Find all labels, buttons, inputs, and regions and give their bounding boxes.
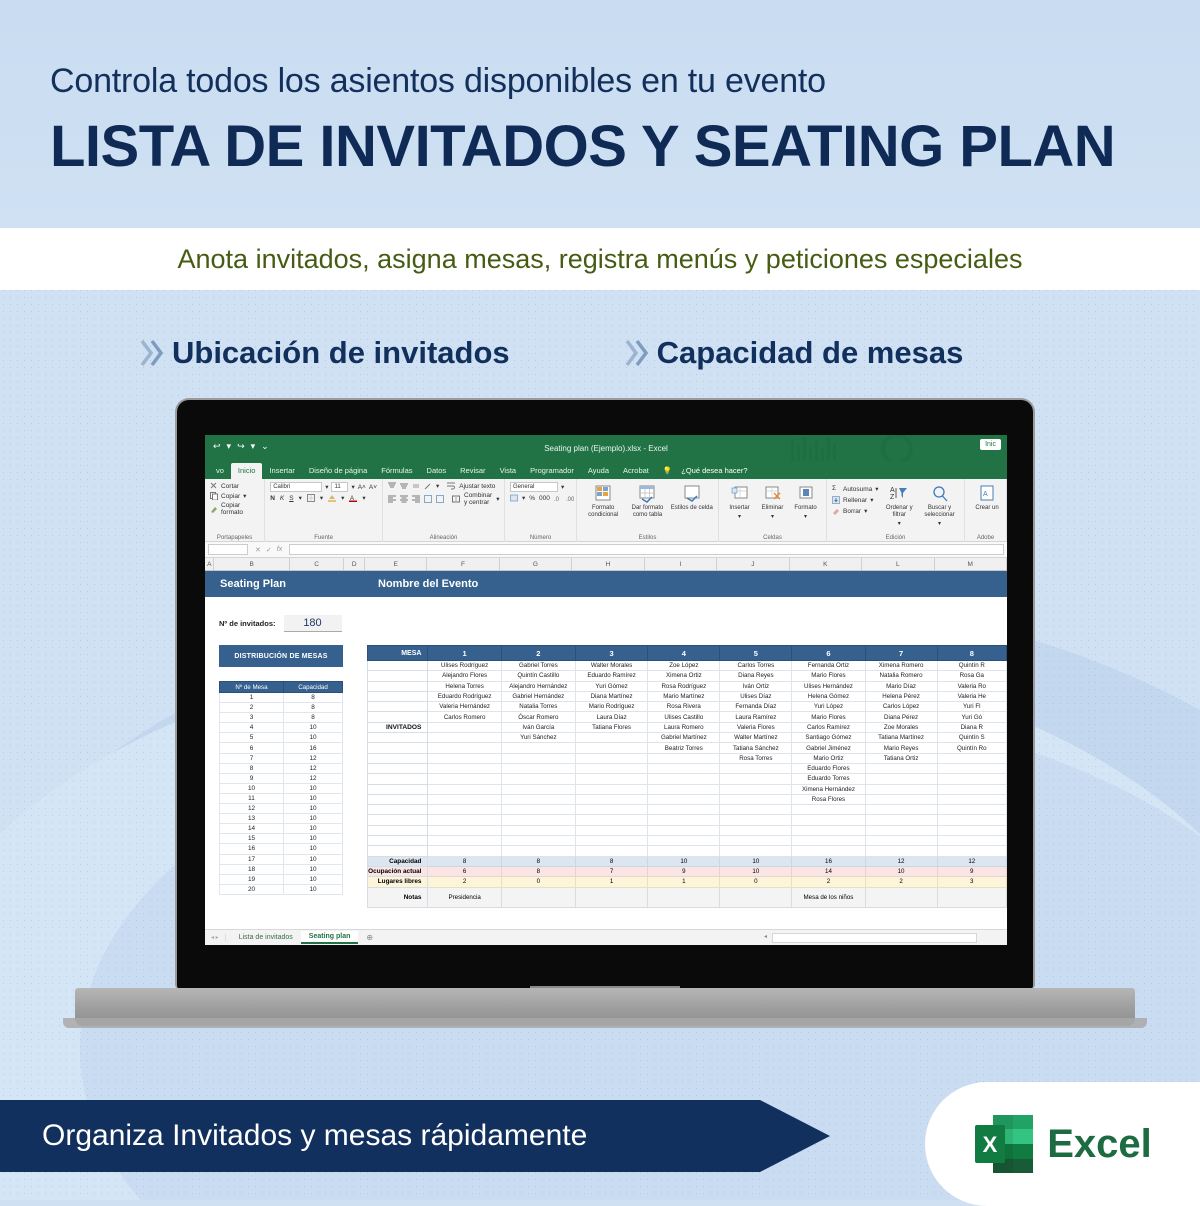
tab-vista[interactable]: Vista <box>493 463 524 479</box>
seating-row: Carlos RomeroÓscar RomeroLaura DíazUlise… <box>368 712 1007 722</box>
percent-button[interactable]: % <box>529 495 535 502</box>
column-header-B[interactable]: B <box>214 558 289 570</box>
guest-name-cell <box>575 784 647 794</box>
italic-button[interactable]: K <box>280 495 284 502</box>
invitados-label <box>368 815 428 825</box>
invitados-label <box>368 743 428 753</box>
insert-cells-button[interactable]: Insertar ▾ <box>724 482 755 542</box>
seating-table: MESA 1 2 3 4 5 6 7 8 Ulises RodríguezGab… <box>367 645 1007 908</box>
capacidad-cell: 8 <box>575 856 647 866</box>
invitados-label <box>368 794 428 804</box>
guest-name-cell: Quintín Castillo <box>501 671 575 681</box>
table-number-header: 2 <box>501 646 575 661</box>
guest-name-cell <box>575 805 647 815</box>
guest-name-cell: Walter Martínez <box>720 733 792 743</box>
horizontal-scrollbar[interactable] <box>772 933 977 943</box>
guest-name-cell: Quintín Ro <box>937 743 1006 753</box>
formula-input[interactable] <box>289 544 1004 555</box>
guest-name-cell <box>501 743 575 753</box>
feature-row: Ubicación de invitados Capacidad de mesa… <box>0 312 1200 394</box>
guest-name-cell: Iván García <box>501 722 575 732</box>
summary-label-capacidad: Capacidad <box>368 856 428 866</box>
guest-name-cell: Diana Martínez <box>575 691 647 701</box>
column-header-I[interactable]: I <box>645 558 717 570</box>
tab-diseno-pagina[interactable]: Diseño de página <box>302 463 374 479</box>
chevron-down-icon[interactable]: ▾ <box>325 483 328 491</box>
guest-name-cell: Natalia Torres <box>501 702 575 712</box>
chevron-down-icon[interactable]: ▾ <box>299 494 302 502</box>
guest-name-cell <box>575 836 647 846</box>
create-pdf-button[interactable]: A Crear un <box>970 482 1004 512</box>
dist-capacidad-cell: 8 <box>284 703 343 713</box>
guest-name-cell <box>575 794 647 804</box>
guest-name-cell <box>792 846 865 856</box>
guest-name-cell: Valeria Hernández <box>428 702 501 712</box>
guest-name-cell: Diana Pérez <box>865 712 937 722</box>
align-middle-icon[interactable] <box>400 482 408 490</box>
row-notas: Notas Presidencia Mesa de los niños <box>368 887 1007 907</box>
add-sheet-icon[interactable]: ⊕ <box>358 933 373 942</box>
guest-name-cell: Mario Flores <box>792 671 865 681</box>
sort-filter-label: Ordenar y filtrar <box>882 505 917 519</box>
chevron-down-icon[interactable]: ▾ <box>938 521 941 528</box>
seating-row: Ulises RodríguezGabriel TorresWalter Mor… <box>368 661 1007 671</box>
feature-label: Ubicación de invitados <box>172 335 510 371</box>
ribbon-group-edicion: Σ Autosuma ▾ Rellenar ▾ <box>827 479 965 542</box>
cell-styles-button[interactable]: Estilos de celda <box>671 482 713 542</box>
guest-name-cell: Santiago Gómez <box>792 733 865 743</box>
tell-me-box[interactable]: ¿Qué desea hacer? <box>674 463 754 479</box>
dist-mesa-cell: 12 <box>220 804 284 814</box>
copy-icon <box>210 492 218 500</box>
scissors-icon <box>210 482 218 490</box>
guest-name-cell <box>648 774 720 784</box>
decrease-indent-icon[interactable] <box>424 495 432 503</box>
guest-name-cell: Gabriel Jiménez <box>792 743 865 753</box>
chevron-down-icon[interactable]: ▾ <box>898 521 901 528</box>
seating-row: INVITADOSIván GarcíaTatiana FloresLaura … <box>368 722 1007 732</box>
guest-name-cell: Gabriel Hernández <box>501 691 575 701</box>
autosum-command[interactable]: Σ Autosuma ▾ <box>832 485 879 493</box>
ribbon: Cortar Copiar ▾ Copiar formato <box>205 479 1007 542</box>
seating-row: Helena TorresAlejandro HernándezYuri Góm… <box>368 681 1007 691</box>
insert-function-icon[interactable]: fx <box>277 546 282 554</box>
find-select-button[interactable]: Buscar y seleccionar ▾ <box>920 482 959 542</box>
chevron-down-icon[interactable]: ▾ <box>561 483 564 491</box>
chevron-down-icon[interactable]: ▾ <box>870 496 873 504</box>
align-left-icon[interactable] <box>388 495 396 503</box>
banner-event-name: Nombre del Evento <box>370 578 478 590</box>
guest-name-cell: Ximena Romero <box>865 661 937 671</box>
guest-name-cell: Laura Romero <box>648 722 720 732</box>
conditional-format-icon <box>594 485 612 503</box>
tab-inicio[interactable]: Inicio <box>231 463 263 479</box>
dist-mesa-cell: 13 <box>220 814 284 824</box>
guest-name-cell: Rosa Flores <box>792 794 865 804</box>
tab-ayuda[interactable]: Ayuda <box>581 463 616 479</box>
guest-name-cell <box>501 846 575 856</box>
distribution-row: 1810 <box>220 864 343 874</box>
dist-mesa-cell: 15 <box>220 834 284 844</box>
chevron-down-icon[interactable]: ▾ <box>351 483 354 491</box>
bold-button[interactable]: N <box>270 495 275 502</box>
guest-name-cell <box>865 825 937 835</box>
document-title: Seating plan (Ejemplo).xlsx - Excel <box>205 444 1007 453</box>
guest-name-cell <box>648 794 720 804</box>
guest-name-cell <box>501 753 575 763</box>
guest-name-cell: Yuri Gó <box>937 712 1006 722</box>
format-cells-button[interactable]: Formato ▾ <box>790 482 821 542</box>
tab-formulas[interactable]: Fórmulas <box>374 463 419 479</box>
cut-label: Cortar <box>221 483 239 490</box>
guest-name-cell <box>937 794 1006 804</box>
chevron-down-icon[interactable]: ▾ <box>436 482 439 490</box>
ocupacion-cell: 9 <box>648 866 720 876</box>
dist-capacidad-cell: 12 <box>284 773 343 783</box>
cell-styles-icon <box>683 485 701 503</box>
feature-item-capacidad: Capacidad de mesas <box>625 335 964 371</box>
increase-font-icon[interactable]: A˄ <box>358 484 366 491</box>
font-color-icon[interactable]: A <box>349 494 357 502</box>
ribbon-group-alineacion: ▾ Ajustar texto Combinar y centrar ▾ <box>383 479 505 542</box>
number-format-select[interactable]: General <box>510 482 558 492</box>
conditional-format-button[interactable]: Formato condicional <box>582 482 624 542</box>
format-painter-command[interactable]: Copiar formato <box>210 502 259 516</box>
scrollbar-thumb[interactable] <box>773 934 943 942</box>
chevron-down-icon[interactable]: ▾ <box>496 495 499 503</box>
chevron-down-icon[interactable]: ▾ <box>362 494 365 502</box>
table-number-header: 8 <box>937 646 1006 661</box>
ocupacion-cell: 10 <box>720 866 792 876</box>
tab-datos[interactable]: Datos <box>420 463 454 479</box>
guest-name-cell <box>575 774 647 784</box>
currency-icon[interactable] <box>510 494 518 502</box>
dist-mesa-cell: 19 <box>220 874 284 884</box>
font-name-select[interactable]: Calibri <box>270 482 322 492</box>
dist-mesa-cell: 14 <box>220 824 284 834</box>
clear-command[interactable]: Borrar ▾ <box>832 507 879 515</box>
align-bottom-icon[interactable] <box>412 482 420 490</box>
guest-name-cell <box>428 753 501 763</box>
nota-cell <box>865 887 937 907</box>
table-icon <box>638 485 656 503</box>
guest-name-cell <box>865 805 937 815</box>
decrease-decimal-icon[interactable]: .00 <box>566 494 574 502</box>
column-header-E[interactable]: E <box>365 558 427 570</box>
column-header-A[interactable]: A <box>205 558 214 570</box>
conditional-format-label: Formato condicional <box>582 505 624 519</box>
tab-archivo[interactable]: vo <box>209 463 231 479</box>
chevron-down-icon[interactable]: ▾ <box>875 485 878 493</box>
ribbon-group-fuente: Calibri ▾ 11 ▾ A˄ A˅ N K S ▾ <box>265 479 383 542</box>
guest-count-label: Nº de invitados: <box>219 619 276 628</box>
chevron-down-icon[interactable]: ▾ <box>771 514 774 521</box>
dist-mesa-cell: 2 <box>220 703 284 713</box>
feature-item-ubicacion: Ubicación de invitados <box>140 335 510 371</box>
format-label: Formato <box>794 505 816 512</box>
guest-name-cell <box>648 836 720 846</box>
merge-cells-icon <box>452 495 460 503</box>
wrap-text-label[interactable]: Ajustar texto <box>459 483 495 490</box>
column-header-J[interactable]: J <box>717 558 789 570</box>
distribution-row: 1310 <box>220 814 343 824</box>
distribution-row: 1010 <box>220 783 343 793</box>
underline-button[interactable]: S <box>289 495 293 502</box>
formula-bar: ✕ ✓ fx <box>205 542 1007 558</box>
laptop-mockup: ↩ ▾ ↪ ▾ ⌄ Seating plan (Ejemplo).xlsx <box>175 398 1035 998</box>
guest-name-cell: Quintín S <box>937 733 1006 743</box>
sheet-nav-arrows-icon[interactable]: ◂ ▸ <box>211 934 226 941</box>
banner-seating-plan: Seating Plan <box>205 578 370 590</box>
format-as-table-button[interactable]: Dar formato como tabla <box>626 482 668 542</box>
tab-acrobat[interactable]: Acrobat <box>616 463 656 479</box>
guest-name-cell <box>792 825 865 835</box>
increase-decimal-icon[interactable]: .0 <box>554 494 562 502</box>
dist-mesa-cell: 6 <box>220 743 284 753</box>
laptop-base-lip <box>63 1018 1147 1028</box>
sheet-tab-lista-invitados[interactable]: Lista de invitados <box>231 932 301 943</box>
dist-capacidad-cell: 8 <box>284 693 343 703</box>
guest-count-value[interactable]: 180 <box>284 615 342 632</box>
copy-command[interactable]: Copiar ▾ <box>210 492 259 500</box>
dist-mesa-cell: 17 <box>220 854 284 864</box>
fill-command[interactable]: Rellenar ▾ <box>832 496 879 504</box>
chevron-down-icon[interactable]: ▾ <box>341 494 344 502</box>
dist-mesa-cell: 11 <box>220 793 284 803</box>
seating-row: Alejandro FloresQuintín CastilloEduardo … <box>368 671 1007 681</box>
guest-name-cell: Carlos López <box>865 702 937 712</box>
distribution-row: 1210 <box>220 804 343 814</box>
guest-name-cell <box>648 753 720 763</box>
guest-name-cell: Zoe Morales <box>865 722 937 732</box>
capacidad-cell: 16 <box>792 856 865 866</box>
chevron-down-icon[interactable]: ▾ <box>243 492 246 500</box>
orientation-icon[interactable] <box>424 482 432 490</box>
libres-cell: 2 <box>865 877 937 887</box>
nota-cell: Presidencia <box>428 887 501 907</box>
invitados-label <box>368 671 428 681</box>
guest-name-cell <box>501 774 575 784</box>
guest-name-cell <box>865 774 937 784</box>
guest-name-cell <box>501 836 575 846</box>
guest-name-cell <box>937 836 1006 846</box>
dist-capacidad-cell: 10 <box>284 864 343 874</box>
group-label-edicion: Edición <box>827 535 964 541</box>
dist-capacidad-cell: 10 <box>284 804 343 814</box>
svg-text:.00: .00 <box>566 497 574 502</box>
tab-programador[interactable]: Programador <box>523 463 581 479</box>
dist-capacidad-cell: 10 <box>284 854 343 864</box>
guest-name-cell: Helena Torres <box>428 681 501 691</box>
ocupacion-cell: 8 <box>501 866 575 876</box>
guest-name-cell: Fernanda Ortiz <box>792 661 865 671</box>
sort-filter-icon: AZ <box>890 485 908 503</box>
dist-capacidad-cell: 10 <box>284 814 343 824</box>
row-lugares-libres: Lugares libres 2 0 1 1 0 2 2 3 <box>368 877 1007 887</box>
excel-title-bar: ↩ ▾ ↪ ▾ ⌄ Seating plan (Ejemplo).xlsx <box>205 435 1007 461</box>
merge-center-label[interactable]: Combinar y centrar <box>464 492 492 506</box>
tab-insertar[interactable]: Insertar <box>262 463 301 479</box>
align-center-icon[interactable] <box>400 495 408 503</box>
column-header-L[interactable]: L <box>862 558 934 570</box>
pdf-icon: A <box>978 485 996 503</box>
column-header-F[interactable]: F <box>427 558 499 570</box>
delete-label: Eliminar <box>762 505 784 512</box>
nota-cell <box>720 887 792 907</box>
guest-name-cell <box>428 784 501 794</box>
ocupacion-cell: 6 <box>428 866 501 876</box>
sigma-icon: Σ <box>832 485 840 493</box>
guest-name-cell: Rosa Rivera <box>648 702 720 712</box>
ribbon-tab-strip[interactable]: vo Inicio Insertar Diseño de página Fórm… <box>205 461 1007 479</box>
fill-label: Rellenar <box>843 497 867 504</box>
autosum-label: Autosuma <box>843 486 872 493</box>
seating-row <box>368 805 1007 815</box>
find-select-label: Buscar y seleccionar <box>920 505 959 519</box>
invitados-label: INVITADOS <box>368 722 428 732</box>
column-header-D[interactable]: D <box>344 558 365 570</box>
dist-mesa-cell: 4 <box>220 723 284 733</box>
dist-mesa-cell: 5 <box>220 733 284 743</box>
tab-revisar[interactable]: Revisar <box>453 463 492 479</box>
footer-ribbon: Organiza Invitados y mesas rápidamente <box>0 1100 830 1172</box>
guest-name-cell <box>428 794 501 804</box>
guest-name-cell: Fernanda Díaz <box>720 702 792 712</box>
table-number-header: 7 <box>865 646 937 661</box>
guest-name-cell <box>428 774 501 784</box>
dist-capacidad-cell: 16 <box>284 743 343 753</box>
distribution-row: 410 <box>220 723 343 733</box>
guest-name-cell: Eduardo Rodríguez <box>428 691 501 701</box>
sort-filter-button[interactable]: AZ Ordenar y filtrar ▾ <box>882 482 917 542</box>
hscroll-left-icon[interactable]: ◂ <box>764 933 767 940</box>
fill-color-icon[interactable] <box>328 494 336 502</box>
guest-name-cell <box>865 815 937 825</box>
font-style-row: N K S ▾ ▾ ▾ A <box>270 494 377 502</box>
distribution-row: 38 <box>220 713 343 723</box>
ribbon-group-numero: General ▾ ▾ % 000 .0 .00 Número <box>505 479 577 542</box>
chevron-down-icon[interactable]: ▾ <box>738 514 741 521</box>
invitados-label <box>368 712 428 722</box>
invitados-label <box>368 733 428 743</box>
guest-name-cell: Carlos Ramírez <box>792 722 865 732</box>
guest-name-cell: Mario Rodríguez <box>575 702 647 712</box>
delete-cells-button[interactable]: Eliminar ▾ <box>757 482 788 542</box>
align-top-icon[interactable] <box>388 482 396 490</box>
laptop-screen-bezel: ↩ ▾ ↪ ▾ ⌄ Seating plan (Ejemplo).xlsx <box>175 398 1035 988</box>
guest-name-cell: Diana R <box>937 722 1006 732</box>
guest-name-cell: Tatiana Ortiz <box>865 753 937 763</box>
guest-name-cell <box>865 794 937 804</box>
chevron-down-icon[interactable]: ▾ <box>320 494 323 502</box>
invitados-label <box>368 836 428 846</box>
guest-name-cell <box>865 836 937 846</box>
guest-name-cell <box>428 733 501 743</box>
column-header-K[interactable]: K <box>790 558 862 570</box>
guest-name-cell <box>575 753 647 763</box>
sheet-tab-bar: ◂ ▸ Lista de invitados Seating plan ⊕ ◂ <box>205 929 1007 945</box>
ribbon-group-portapapeles: Cortar Copiar ▾ Copiar formato <box>205 479 265 542</box>
guest-name-cell <box>792 815 865 825</box>
guest-name-cell: Yuri Fl <box>937 702 1006 712</box>
sign-in-button[interactable]: Inic <box>980 439 1001 450</box>
column-header-G[interactable]: G <box>500 558 572 570</box>
guest-name-cell <box>648 784 720 794</box>
align-right-icon[interactable] <box>412 495 420 503</box>
column-header-H[interactable]: H <box>572 558 644 570</box>
seating-header-row: MESA 1 2 3 4 5 6 7 8 <box>368 646 1007 661</box>
distribution-header-row: Nº de Mesa Capacidad <box>220 682 343 693</box>
seating-guest-body: Ulises RodríguezGabriel TorresWalter Mor… <box>368 661 1007 857</box>
guest-name-cell: Tatiana Sánchez <box>720 743 792 753</box>
ribbon-group-adobe: A Crear un Adobe <box>965 479 1007 542</box>
increase-indent-icon[interactable] <box>436 495 444 503</box>
guest-name-cell <box>937 784 1006 794</box>
dist-capacidad-cell: 10 <box>284 793 343 803</box>
guest-name-cell <box>937 815 1006 825</box>
invitados-label <box>368 784 428 794</box>
format-painter-label: Copiar formato <box>221 502 259 516</box>
distribution-table: Nº de Mesa Capacidad 1828384105106167128… <box>219 681 343 895</box>
ribbon-group-celdas: Insertar ▾ Eliminar ▾ Form <box>719 479 827 542</box>
column-header-C[interactable]: C <box>290 558 345 570</box>
guest-name-cell: Ulises Hernández <box>792 681 865 691</box>
footer-text: Organiza Invitados y mesas rápidamente <box>0 1119 587 1153</box>
table-number-header: 6 <box>792 646 865 661</box>
guest-name-cell <box>720 805 792 815</box>
column-header-M[interactable]: M <box>935 558 1007 570</box>
guest-name-cell <box>648 815 720 825</box>
guest-name-cell <box>720 763 792 773</box>
chevron-down-icon[interactable]: ▾ <box>804 514 807 521</box>
guest-name-cell <box>865 846 937 856</box>
name-box[interactable] <box>208 544 248 555</box>
font-controls-row: Calibri ▾ 11 ▾ A˄ A˅ <box>270 482 377 492</box>
guest-name-cell: Beatriz Torres <box>648 743 720 753</box>
chevron-down-icon[interactable]: ▾ <box>522 494 525 502</box>
guest-name-cell: Laura Díaz <box>575 712 647 722</box>
sheet-tab-seating-plan[interactable]: Seating plan <box>301 931 359 944</box>
row-capacidad: Capacidad 8 8 8 10 10 16 12 12 <box>368 856 1007 866</box>
dist-capacidad-cell: 10 <box>284 723 343 733</box>
chevron-down-icon[interactable]: ▾ <box>864 507 867 515</box>
align-horizontal-row: Combinar y centrar ▾ <box>388 492 499 506</box>
insert-icon <box>731 485 749 503</box>
copy-label: Copiar <box>221 493 240 500</box>
cancel-icon[interactable]: ✕ <box>255 546 261 554</box>
double-chevron-icon <box>140 338 166 368</box>
feature-label: Capacidad de mesas <box>657 335 964 371</box>
guest-name-cell <box>865 784 937 794</box>
search-icon <box>931 485 949 503</box>
distribution-row: 616 <box>220 743 343 753</box>
distribution-row: 712 <box>220 753 343 763</box>
fill-down-icon <box>832 496 840 504</box>
cut-command[interactable]: Cortar <box>210 482 259 490</box>
distribution-row: 1910 <box>220 874 343 884</box>
borders-icon[interactable] <box>307 494 315 502</box>
decrease-font-icon[interactable]: A˅ <box>369 484 377 491</box>
confirm-icon[interactable]: ✓ <box>266 546 272 554</box>
libres-cell: 3 <box>937 877 1006 887</box>
font-size-select[interactable]: 11 <box>331 482 348 492</box>
nota-cell: Mesa de los niños <box>792 887 865 907</box>
invitados-label <box>368 753 428 763</box>
comma-style-button[interactable]: 000 <box>539 495 550 502</box>
guest-name-cell: Quintín R <box>937 661 1006 671</box>
page-title: LISTA DE INVITADOS Y SEATING PLAN <box>50 101 1200 180</box>
guest-name-cell <box>428 722 501 732</box>
